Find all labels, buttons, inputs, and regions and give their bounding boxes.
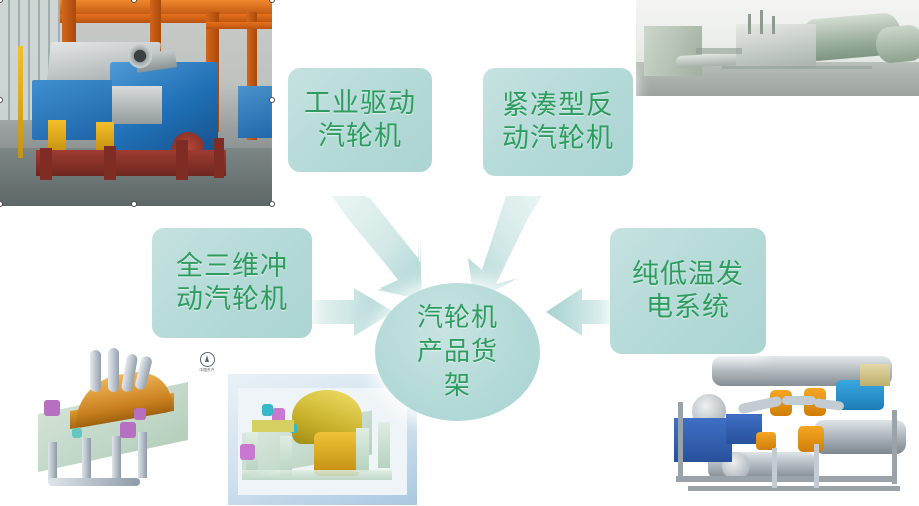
cad-valve-3: [134, 408, 146, 420]
cad-valve-4: [72, 428, 82, 438]
orc-support-2: [814, 444, 819, 488]
render-turbine-exhaust: [875, 24, 919, 64]
node-label: 紧凑型反动汽轮机: [502, 89, 614, 155]
base-leg-3: [176, 140, 188, 180]
cad-valve-2: [120, 422, 136, 438]
logo-text: 中国东汽: [194, 368, 220, 373]
orc-skid-post-2: [892, 410, 897, 484]
cad-base-plate: [242, 470, 392, 480]
slide-canvas: 中国东汽: [0, 0, 919, 506]
render-skid-beam: [696, 48, 742, 54]
orc-pipe-2: [782, 396, 816, 405]
base-leg-4: [214, 138, 224, 178]
turbine-flange: [128, 44, 152, 68]
orc-skid-render[interactable]: [664, 344, 919, 506]
cad-valve-1: [44, 400, 60, 416]
render-stack-1: [748, 14, 751, 34]
node-industrial-drive-turbine[interactable]: 工业驱动汽轮机: [288, 68, 432, 172]
cad-column-4: [378, 422, 390, 468]
center-node-label: 汽轮机产品货架: [417, 301, 498, 402]
cad-pipe-2: [108, 348, 119, 392]
yellow-rail: [18, 46, 23, 158]
base-leg-2: [104, 146, 116, 180]
company-logo: 中国东汽: [194, 352, 220, 373]
cad-column-3: [356, 428, 369, 472]
render-floor-line: [722, 66, 872, 69]
background-turbine: [238, 86, 272, 138]
green-turbine-render[interactable]: [636, 0, 919, 96]
selection-handle-bc[interactable]: [131, 201, 137, 207]
base-leg-1: [40, 148, 52, 180]
cad-yellow-casing[interactable]: [228, 374, 417, 505]
cad-drain-4: [138, 432, 147, 478]
render-enclosure-box: [644, 26, 702, 76]
render-stack-2: [760, 10, 763, 34]
node-full-3d-impulse-turbine[interactable]: 全三维冲动汽轮机: [152, 228, 312, 338]
orc-skid-post-1: [678, 402, 683, 482]
cad-drain-1: [48, 442, 57, 480]
cad-pipe-1: [90, 350, 101, 392]
cad-y-module: [252, 420, 294, 432]
node-compact-reaction-turbine[interactable]: 紧凑型反动汽轮机: [483, 68, 633, 176]
cad-drain-header: [48, 478, 140, 486]
cad-drain-2: [82, 438, 91, 480]
center-node[interactable]: 汽轮机产品货架: [375, 283, 540, 421]
node-label: 纯低温发电系统: [632, 258, 744, 324]
cad-drain-3: [112, 436, 121, 480]
selection-handle-bl[interactable]: [0, 201, 3, 207]
orc-terminal-box: [860, 364, 890, 386]
node-pure-low-temp-power-system[interactable]: 纯低温发电系统: [610, 228, 766, 354]
selection-handle-br[interactable]: [269, 201, 275, 207]
cad-y-valve-2: [240, 444, 255, 460]
turbine-base-frame: [36, 150, 226, 176]
logo-mark: [200, 352, 215, 367]
cad-orange-casing[interactable]: 中国东汽: [14, 346, 226, 500]
crane-cross-beam: [206, 22, 272, 29]
arrow-from-industrial-drive: [326, 196, 422, 300]
blue-turbine-photo[interactable]: [0, 0, 272, 206]
node-label: 全三维冲动汽轮机: [176, 250, 288, 316]
render-stack-3: [772, 16, 775, 34]
cad-y-valve-3: [262, 404, 273, 416]
orc-skid-rail-1: [676, 476, 896, 482]
node-label: 工业驱动汽轮机: [304, 87, 416, 153]
selection-handle-mr[interactable]: [269, 97, 275, 103]
selection-handle-tr[interactable]: [269, 0, 275, 3]
orc-skid-rail-2: [688, 486, 900, 491]
orc-valve-3: [798, 426, 824, 452]
orc-support-1: [772, 448, 777, 488]
